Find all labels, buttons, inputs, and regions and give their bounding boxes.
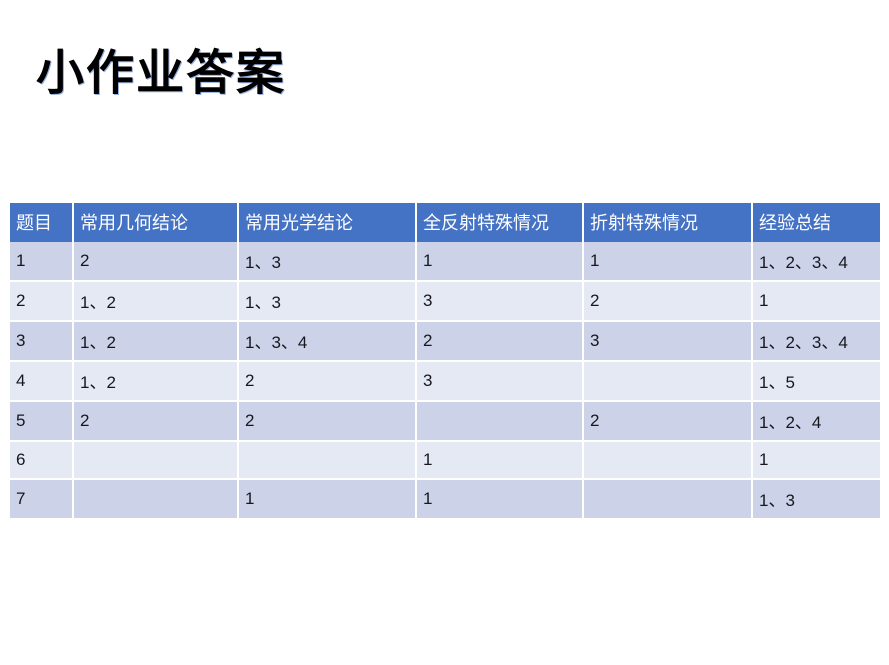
table-cell-optics-conclusions: 1 [238, 479, 416, 518]
table-cell-refraction-cases: 3 [583, 321, 752, 361]
answer-table-container: 题目常用几何结论常用光学结论全反射特殊情况折射特殊情况经验总结 121、3111… [10, 203, 880, 518]
table-cell-geometry-conclusions [73, 479, 238, 518]
answer-table: 题目常用几何结论常用光学结论全反射特殊情况折射特殊情况经验总结 121、3111… [10, 203, 880, 518]
slide-canvas: 小作业答案 题目常用几何结论常用光学结论全反射特殊情况折射特殊情况经验总结 12… [0, 0, 889, 665]
table-cell-question-no: 1 [10, 242, 73, 281]
table-column-header-optics-conclusions: 常用光学结论 [238, 203, 416, 242]
table-row: 52221、2、4 [10, 401, 880, 441]
table-cell-question-no: 7 [10, 479, 73, 518]
table-row: 121、3111、2、3、4 [10, 242, 880, 281]
table-cell-refraction-cases [583, 479, 752, 518]
table-cell-total-reflection-cases [416, 401, 583, 441]
table-cell-question-no: 6 [10, 441, 73, 479]
table-column-header-total-reflection-cases: 全反射特殊情况 [416, 203, 583, 242]
table-cell-refraction-cases [583, 361, 752, 401]
table-cell-geometry-conclusions: 1、2 [73, 321, 238, 361]
table-cell-refraction-cases: 2 [583, 281, 752, 321]
table-cell-experience-summary: 1、3 [752, 479, 880, 518]
table-cell-question-no: 5 [10, 401, 73, 441]
table-header-row: 题目常用几何结论常用光学结论全反射特殊情况折射特殊情况经验总结 [10, 203, 880, 242]
table-body: 121、3111、2、3、421、21、332131、21、3、4231、2、3… [10, 242, 880, 518]
table-cell-optics-conclusions: 1、3 [238, 281, 416, 321]
table-cell-geometry-conclusions: 2 [73, 242, 238, 281]
table-cell-question-no: 3 [10, 321, 73, 361]
table-column-header-geometry-conclusions: 常用几何结论 [73, 203, 238, 242]
table-cell-experience-summary: 1、2、3、4 [752, 242, 880, 281]
table-cell-total-reflection-cases: 3 [416, 281, 583, 321]
table-cell-optics-conclusions: 1、3、4 [238, 321, 416, 361]
table-cell-experience-summary: 1、5 [752, 361, 880, 401]
table-cell-total-reflection-cases: 1 [416, 242, 583, 281]
table-row: 21、21、3321 [10, 281, 880, 321]
table-cell-geometry-conclusions [73, 441, 238, 479]
table-cell-total-reflection-cases: 1 [416, 479, 583, 518]
table-column-header-question-no: 题目 [10, 203, 73, 242]
table-cell-question-no: 4 [10, 361, 73, 401]
table-row: 31、21、3、4231、2、3、4 [10, 321, 880, 361]
table-cell-refraction-cases [583, 441, 752, 479]
table-row: 611 [10, 441, 880, 479]
table-cell-total-reflection-cases: 1 [416, 441, 583, 479]
table-cell-refraction-cases: 2 [583, 401, 752, 441]
table-row: 41、2231、5 [10, 361, 880, 401]
table-column-header-experience-summary: 经验总结 [752, 203, 880, 242]
table-cell-experience-summary: 1、2、3、4 [752, 321, 880, 361]
table-cell-optics-conclusions: 2 [238, 361, 416, 401]
table-cell-total-reflection-cases: 2 [416, 321, 583, 361]
table-cell-question-no: 2 [10, 281, 73, 321]
table-cell-optics-conclusions: 1、3 [238, 242, 416, 281]
table-column-header-refraction-cases: 折射特殊情况 [583, 203, 752, 242]
page-title: 小作业答案 [36, 45, 286, 103]
table-cell-optics-conclusions: 2 [238, 401, 416, 441]
table-cell-experience-summary: 1 [752, 441, 880, 479]
table-header: 题目常用几何结论常用光学结论全反射特殊情况折射特殊情况经验总结 [10, 203, 880, 242]
table-cell-experience-summary: 1、2、4 [752, 401, 880, 441]
table-cell-optics-conclusions [238, 441, 416, 479]
table-cell-experience-summary: 1 [752, 281, 880, 321]
table-cell-refraction-cases: 1 [583, 242, 752, 281]
table-row: 7111、3 [10, 479, 880, 518]
table-cell-geometry-conclusions: 1、2 [73, 361, 238, 401]
table-cell-total-reflection-cases: 3 [416, 361, 583, 401]
table-cell-geometry-conclusions: 1、2 [73, 281, 238, 321]
table-cell-geometry-conclusions: 2 [73, 401, 238, 441]
